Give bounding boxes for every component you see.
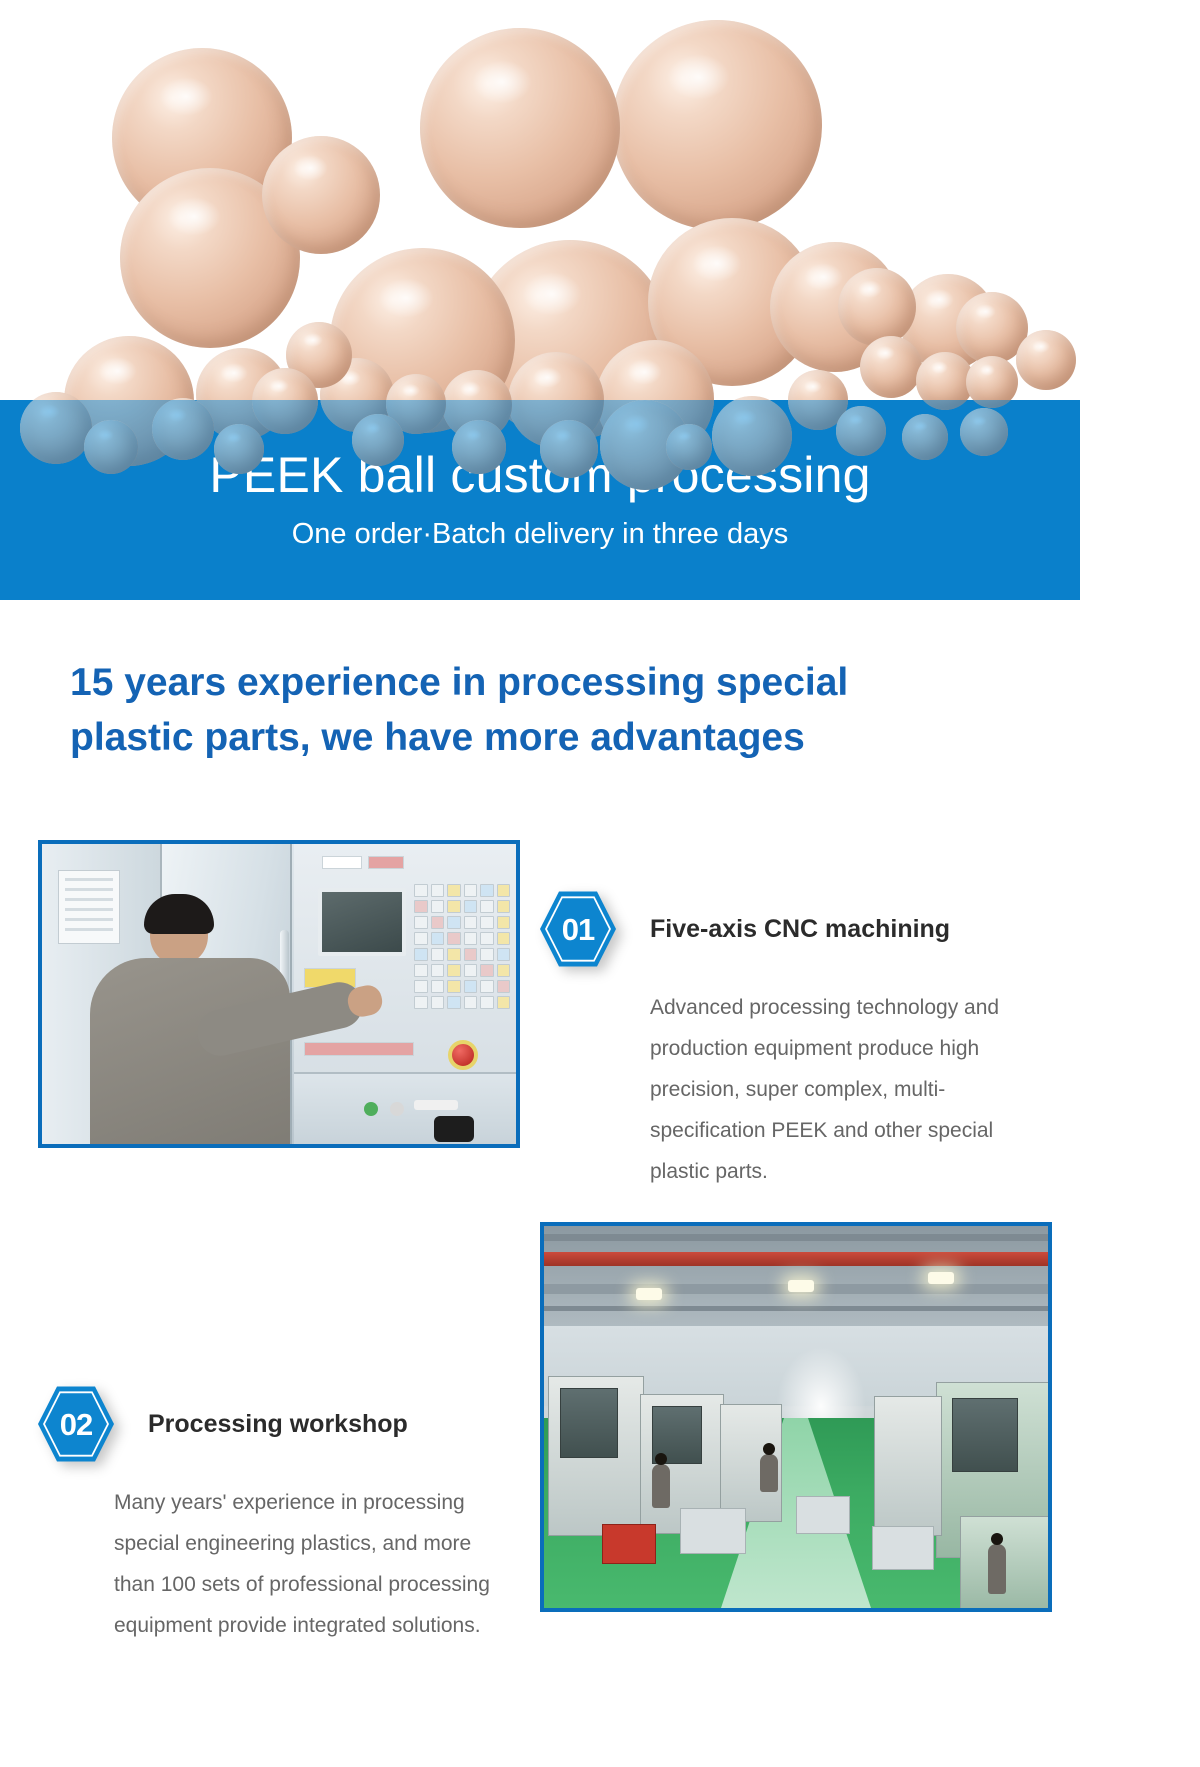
peek-ball	[860, 336, 922, 398]
cnc-screen	[318, 888, 406, 956]
cnc-green-button	[364, 1102, 378, 1116]
feature-card-02: 02 Processing workshop Many years' exper…	[38, 1385, 518, 1647]
ceiling-lamp-3	[928, 1272, 954, 1284]
operator-hair	[144, 894, 214, 934]
feature-01-header: 01 Five-axis CNC machining	[540, 890, 1058, 968]
ceiling-beam-1	[544, 1234, 1048, 1241]
cnc-scene	[42, 844, 516, 1144]
peek-ball	[612, 20, 822, 230]
feature-card-01: 01 Five-axis CNC machining Advanced proc…	[540, 890, 1058, 1193]
peek-ball	[352, 414, 404, 466]
peek-ball	[712, 396, 792, 476]
cnc-sticker-1	[322, 856, 362, 869]
feature-description: Many years' experience in processing spe…	[114, 1483, 514, 1647]
section-heading: 15 years experience in processing specia…	[70, 655, 1050, 766]
peek-ball	[1016, 330, 1076, 390]
cnc-keypad	[414, 884, 510, 1034]
peek-ball	[540, 420, 598, 478]
section-heading-line-2: plastic parts, we have more advantages	[70, 710, 1050, 765]
feature-title: Five-axis CNC machining	[650, 914, 950, 944]
peek-ball	[152, 398, 214, 460]
peek-ball	[420, 28, 620, 228]
workshop-machine-window-3	[952, 1398, 1018, 1472]
cnc-operator	[76, 900, 306, 1148]
peek-ball	[960, 408, 1008, 456]
workshop-photo	[540, 1222, 1052, 1612]
workshop-worker-1	[652, 1464, 670, 1508]
ceiling-lamp-1	[636, 1288, 662, 1300]
workshop-cart-3	[872, 1526, 934, 1570]
operator-body	[90, 958, 290, 1148]
feature-02-header: 02 Processing workshop	[38, 1385, 518, 1463]
feature-title: Processing workshop	[148, 1409, 408, 1439]
section-heading-line-1: 15 years experience in processing specia…	[70, 655, 1050, 710]
peek-ball	[262, 136, 380, 254]
workshop-machine-right-2	[874, 1396, 942, 1536]
peek-ball	[666, 424, 712, 470]
workshop-machine-window-1	[560, 1388, 618, 1458]
workshop-scene	[544, 1226, 1048, 1608]
cnc-switch	[414, 1100, 458, 1110]
workshop-cart-1	[680, 1508, 746, 1554]
cnc-sticker-2	[368, 856, 404, 869]
cnc-lower-cabinet	[294, 1072, 520, 1144]
hero-banner: PEEK ball custom processing One order·Ba…	[0, 0, 1080, 673]
hexagon-badge-icon: 02	[38, 1385, 114, 1463]
peek-ball	[966, 356, 1018, 408]
hero-subtitle: One order·Batch delivery in three days	[0, 517, 1080, 552]
hexagon-badge-icon: 01	[540, 890, 616, 968]
peek-ball	[838, 268, 916, 346]
peek-ball	[836, 406, 886, 456]
peek-ball	[452, 420, 506, 474]
workshop-machine-right-3	[960, 1516, 1052, 1612]
cnc-operator-photo	[38, 840, 520, 1148]
workshop-worker-3	[988, 1544, 1006, 1594]
workshop-cart-2	[796, 1496, 850, 1534]
peek-ball	[902, 414, 948, 460]
cnc-emergency-stop-button	[448, 1040, 478, 1070]
peek-ball	[252, 368, 318, 434]
feature-number: 02	[60, 1409, 92, 1440]
workshop-worker-2	[760, 1454, 778, 1492]
ceiling-red-duct	[544, 1252, 1048, 1266]
cnc-grey-button	[390, 1102, 404, 1116]
ceiling-beam-2	[544, 1306, 1048, 1311]
peek-ball	[84, 420, 138, 474]
cnc-red-strip	[304, 1042, 414, 1056]
product-detail-page: PEEK ball custom processing One order·Ba…	[0, 0, 1200, 1767]
cnc-cable	[434, 1116, 474, 1142]
ceiling-lamp-2	[788, 1280, 814, 1292]
feature-number: 01	[562, 914, 594, 945]
peek-ball	[20, 392, 92, 464]
workshop-cart-red	[602, 1524, 656, 1564]
feature-description: Advanced processing technology and produ…	[650, 988, 1058, 1193]
peek-ball	[214, 424, 264, 474]
